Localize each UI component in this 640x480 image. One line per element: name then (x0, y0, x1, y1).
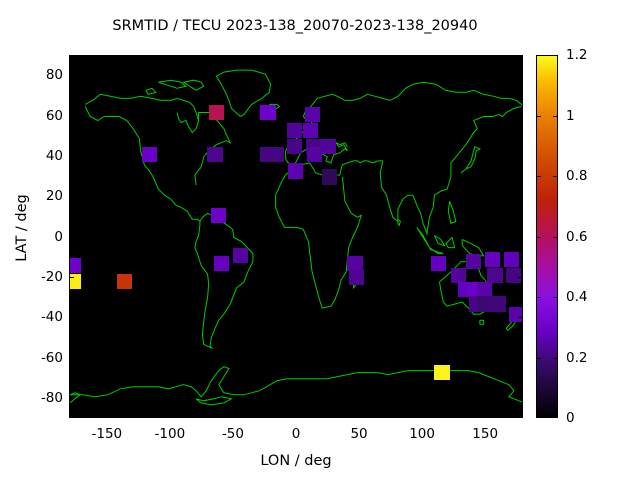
y-tick-mark-right (518, 75, 523, 76)
chart-title: SRMTID / TECU 2023-138_20070-2023-138_20… (0, 18, 590, 34)
colorbar-tick-mark-right (553, 176, 558, 177)
y-tick-mark (69, 196, 74, 197)
y-tick-mark (69, 156, 74, 157)
x-tick-mark-top (359, 55, 360, 60)
colorbar-tick-mark-right (553, 116, 558, 117)
heatmap-cell (303, 123, 318, 138)
y-tick-label: -60 (21, 350, 63, 366)
figure-canvas: SRMTID / TECU 2023-138_20070-2023-138_20… (0, 0, 640, 480)
y-axis-label: LAT / deg (14, 168, 30, 288)
x-tick-mark-top (485, 55, 486, 60)
heatmap-cell (431, 256, 446, 271)
heatmap-cell (260, 105, 275, 120)
heatmap-cell (233, 248, 248, 263)
y-tick-mark-right (518, 358, 523, 359)
y-tick-mark (69, 317, 74, 318)
heatmap-cell (487, 268, 502, 283)
colorbar-tick-label: 0.2 (566, 350, 587, 366)
heatmap-cell (504, 252, 519, 267)
x-tick-mark (170, 413, 171, 418)
map-plot-area (69, 55, 523, 418)
colorbar-tick-mark (536, 358, 541, 359)
y-tick-mark (69, 398, 74, 399)
colorbar-tick-label: 1 (566, 108, 575, 124)
colorbar-tick-label: 1.2 (566, 47, 587, 63)
y-tick-mark (69, 237, 74, 238)
y-tick-mark-right (518, 277, 523, 278)
heatmap-cell (322, 169, 337, 184)
colorbar-tick-mark (536, 237, 541, 238)
x-tick-mark (107, 413, 108, 418)
colorbar-tick-mark-right (553, 237, 558, 238)
y-tick-mark (69, 75, 74, 76)
colorbar-tick-label: 0.8 (566, 168, 587, 184)
x-tick-mark (359, 413, 360, 418)
x-tick-label: 50 (350, 426, 367, 442)
y-tick-label: 40 (21, 148, 63, 164)
heatmap-cell (477, 282, 492, 297)
heatmap-cell (491, 296, 506, 311)
heatmap-cell-layer (70, 56, 523, 418)
colorbar-tick-mark-right (553, 358, 558, 359)
heatmap-cell (485, 252, 500, 267)
heatmap-cell (307, 147, 322, 162)
y-tick-mark-right (518, 317, 523, 318)
heatmap-cell (451, 268, 466, 283)
y-tick-mark-right (518, 196, 523, 197)
heatmap-cell (347, 256, 362, 271)
heatmap-cell (69, 258, 81, 273)
colorbar-tick-mark (536, 297, 541, 298)
heatmap-cell (466, 254, 481, 269)
x-tick-label: 0 (292, 426, 301, 442)
heatmap-cell (509, 307, 523, 322)
heatmap-cell (214, 256, 229, 271)
y-tick-mark (69, 277, 74, 278)
heatmap-cell (207, 147, 222, 162)
x-tick-mark (485, 413, 486, 418)
colorbar-tick-mark (536, 116, 541, 117)
heatmap-cell (209, 105, 224, 120)
x-tick-mark-top (296, 55, 297, 60)
y-tick-mark (69, 116, 74, 117)
heatmap-cell (287, 139, 302, 154)
x-tick-mark-top (107, 55, 108, 60)
x-tick-mark-top (170, 55, 171, 60)
y-tick-label: -80 (21, 390, 63, 406)
x-tick-mark (233, 413, 234, 418)
y-tick-mark-right (518, 156, 523, 157)
heatmap-cell (506, 268, 521, 283)
y-tick-label: 80 (21, 67, 63, 83)
x-tick-mark-top (233, 55, 234, 60)
heatmap-cell (305, 107, 320, 122)
colorbar-tick-mark (536, 176, 541, 177)
heatmap-cell (269, 147, 284, 162)
colorbar-tick-label: 0.6 (566, 229, 587, 245)
heatmap-cell (349, 270, 364, 285)
x-tick-label: -100 (155, 426, 186, 442)
x-tick-label: -50 (222, 426, 244, 442)
x-axis-label: LON / deg (69, 453, 523, 469)
colorbar-tick-mark-right (553, 297, 558, 298)
y-tick-mark-right (518, 398, 523, 399)
heatmap-cell (321, 139, 336, 154)
x-tick-mark-top (422, 55, 423, 60)
y-tick-mark-right (518, 237, 523, 238)
heatmap-cell (142, 147, 157, 162)
heatmap-cell (211, 208, 226, 223)
y-tick-mark-right (518, 116, 523, 117)
x-tick-label: -150 (92, 426, 123, 442)
heatmap-cell (434, 365, 449, 380)
x-tick-label: 150 (472, 426, 498, 442)
heatmap-cell (287, 123, 302, 138)
heatmap-cell (288, 163, 303, 178)
colorbar-tick-label: 0 (566, 410, 575, 426)
heatmap-cell (477, 296, 492, 311)
x-tick-label: 100 (409, 426, 435, 442)
x-tick-mark (422, 413, 423, 418)
y-tick-label: -40 (21, 309, 63, 325)
y-tick-label: 60 (21, 108, 63, 124)
colorbar-tick-label: 0.4 (566, 289, 587, 305)
x-tick-mark (296, 413, 297, 418)
heatmap-cell (117, 274, 132, 289)
y-tick-mark (69, 358, 74, 359)
